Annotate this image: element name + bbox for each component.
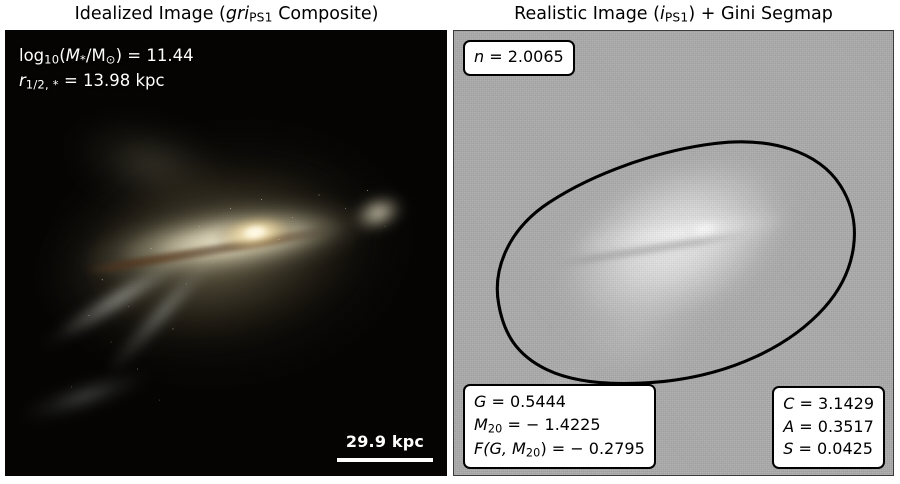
- scalebar: 29.9 kpc: [337, 432, 433, 462]
- concentration-value: = 3.1429: [794, 394, 874, 413]
- stellar-mass-line: log10(M*/M⊙) = 11.44: [19, 44, 194, 69]
- stellar-mass-value: = 11.44: [122, 46, 194, 65]
- scalebar-label: 29.9 kpc: [337, 432, 433, 451]
- segmap-path: [497, 142, 854, 384]
- half-mass-symbol: r: [19, 71, 26, 90]
- m20-value: = − 1.4225: [502, 415, 600, 434]
- smoothness-line: S = 0.0425: [783, 438, 874, 461]
- stellar-mass-divider: /M: [86, 46, 106, 65]
- smoothness-symbol: S: [783, 439, 793, 458]
- half-mass-value: = 13.98 kpc: [59, 71, 165, 90]
- image-grain: [5, 30, 447, 476]
- title-left-post: Composite): [273, 4, 379, 24]
- asymmetry-value: = 0.3517: [794, 417, 874, 436]
- stellar-mass-symbol: M: [66, 46, 80, 65]
- panel-title-idealized: Idealized Image (griPS1 Composite): [5, 1, 448, 27]
- f-gm20-line: F(G, M20) = − 0.2795: [474, 438, 645, 461]
- sersic-index-box: n = 2.0065: [463, 40, 575, 76]
- concentration-line: C = 3.1429: [783, 393, 874, 416]
- cas-box: C = 3.1429 A = 0.3517 S = 0.0425: [772, 386, 885, 469]
- title-right-post: ) + Gini Segmap: [688, 4, 832, 24]
- gini-symbol: G: [474, 392, 486, 411]
- asymmetry-line: A = 0.3517: [783, 416, 874, 439]
- smoothness-value: = 0.0425: [793, 439, 873, 458]
- m20-symbol: M: [474, 415, 488, 434]
- half-mass-radius-line: r1/2, * = 13.98 kpc: [19, 69, 194, 94]
- title-right-pre: Realistic Image (: [514, 4, 660, 24]
- gini-value: = 0.5444: [486, 392, 566, 411]
- stellar-mass-log: log: [19, 46, 44, 65]
- asymmetry-symbol: A: [783, 417, 794, 436]
- panel-idealized-image: log10(M*/M⊙) = 11.44 r1/2, * = 13.98 kpc…: [5, 30, 447, 476]
- m20-line: M20 = − 1.4225: [474, 414, 645, 437]
- gini-m20-box: G = 0.5444 M20 = − 1.4225 F(G, M20) = − …: [463, 384, 656, 469]
- sersic-symbol: n: [474, 47, 484, 66]
- m20-sub: 20: [488, 423, 503, 436]
- concentration-symbol: C: [783, 394, 794, 413]
- scalebar-line: [337, 458, 433, 462]
- gini-line: G = 0.5444: [474, 391, 645, 414]
- idealized-stats-text: log10(M*/M⊙) = 11.44 r1/2, * = 13.98 kpc: [19, 44, 194, 94]
- title-left-subscript: PS1: [249, 11, 273, 25]
- panel-title-realistic: Realistic Image (iPS1) + Gini Segmap: [453, 1, 894, 27]
- panel-realistic-image: n = 2.0065 G = 0.5444 M20 = − 1.4225 F(G…: [453, 30, 894, 476]
- figure-root: Idealized Image (griPS1 Composite) Reali…: [0, 0, 900, 484]
- f-gm20-sub: 20: [526, 446, 541, 459]
- stellar-mass-log-sub: 10: [44, 53, 59, 67]
- stellar-mass-sun-sub: ⊙: [106, 53, 116, 67]
- galaxy-idealized-render: [5, 30, 447, 476]
- f-gm20-value: ) = − 0.2795: [540, 439, 644, 458]
- sersic-value: = 2.0065: [484, 47, 564, 66]
- f-gm20-symbol: F(G, M: [474, 439, 526, 458]
- title-left-pre: Idealized Image (: [75, 4, 226, 24]
- title-left-italic: gri: [226, 4, 249, 24]
- half-mass-sub: 1/2, *: [26, 77, 59, 91]
- title-right-subscript: PS1: [665, 11, 689, 25]
